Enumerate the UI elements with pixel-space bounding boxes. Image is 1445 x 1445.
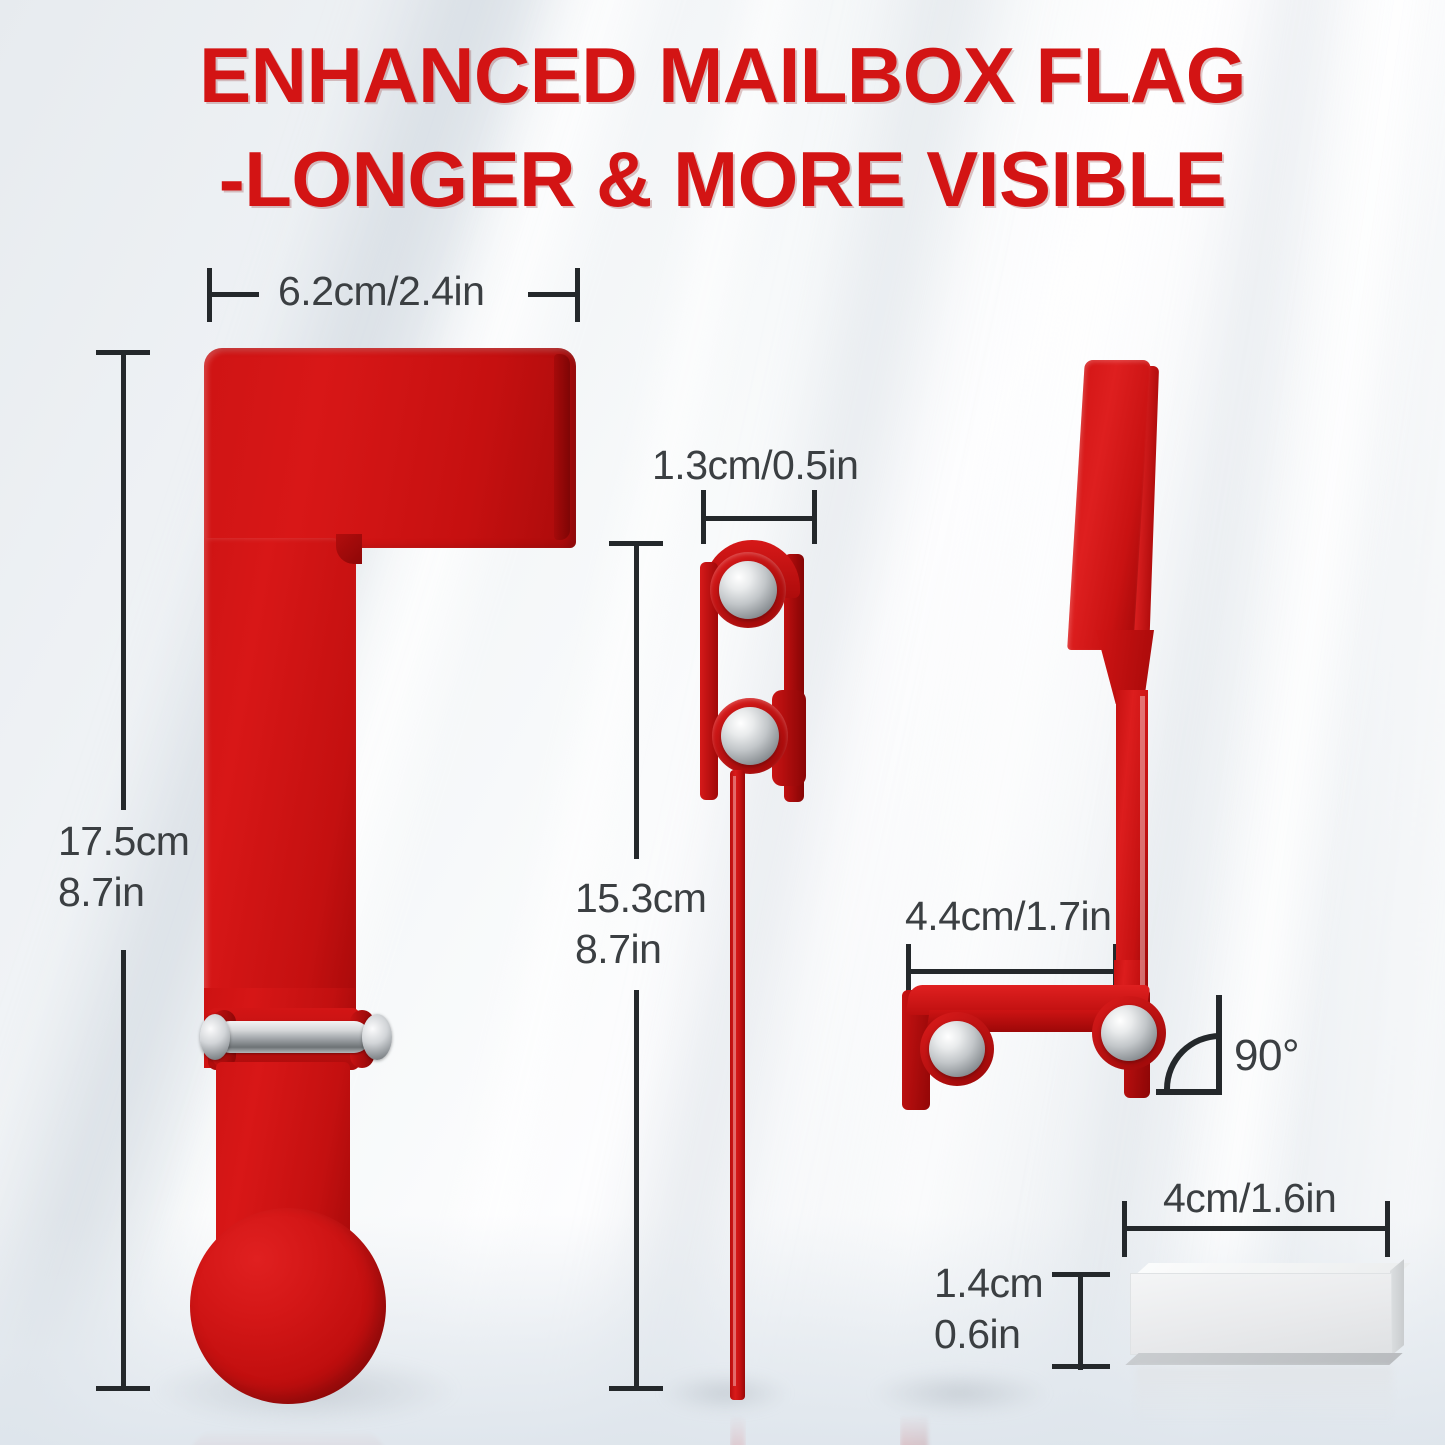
pad-reflection (1136, 1367, 1392, 1421)
hinge-pin-cap-left (200, 1014, 230, 1060)
dimension-line (634, 541, 639, 859)
product-view-perspective (900, 360, 1320, 1400)
dimension-line (121, 950, 126, 1390)
hinge-pin-cap-right (362, 1014, 392, 1060)
dimension-tick (1385, 1201, 1390, 1257)
ball-rivet-icon (719, 561, 777, 619)
pad-front-face (1130, 1273, 1392, 1355)
dimension-label-flag-width: 6.2cm/2.4in (278, 266, 484, 317)
product-view-front-flag (186, 348, 606, 1398)
dimension-line (701, 516, 817, 521)
pivot-housing-right (1092, 996, 1166, 1070)
title-line-1: ENHANCED MAILBOX FLAG (199, 31, 1246, 119)
flag-rod-highlight (733, 776, 736, 1386)
flag-panel (204, 348, 576, 548)
hinge-pin (214, 1021, 370, 1053)
pivot-housing-upper (710, 552, 786, 628)
pad-bottom-edge (1125, 1353, 1402, 1365)
flag-panel-edge (554, 354, 570, 540)
dimension-tick (609, 1386, 663, 1391)
pivot-housing-lower (712, 698, 788, 774)
dimension-line (528, 292, 580, 297)
flag-shaft-highlight (1140, 696, 1145, 1026)
pivot-housing-left (920, 1012, 994, 1086)
ball-rivet-icon (929, 1021, 985, 1077)
dimension-line (634, 990, 639, 1390)
product-view-adhesive-pad (1130, 1263, 1405, 1375)
dimension-tick (812, 490, 817, 544)
dimension-line (121, 350, 126, 810)
dimension-tick (96, 1386, 150, 1391)
product-infographic: ENHANCED MAILBOX FLAG -LONGER & MORE VIS… (0, 0, 1445, 1445)
page-title: ENHANCED MAILBOX FLAG -LONGER & MORE VIS… (0, 24, 1445, 231)
dimension-label-flag-height: 17.5cm 8.7in (58, 816, 189, 919)
ball-rivet-icon (721, 707, 779, 765)
flag-vertical-arm (204, 538, 356, 1018)
dimension-label-bracket-width: 1.3cm/0.5in (652, 440, 858, 491)
title-line-2: -LONGER & MORE VISIBLE (219, 135, 1226, 223)
ball-rivet-icon (1101, 1005, 1157, 1061)
flag-base-disc (190, 1208, 386, 1404)
pad-side-face (1390, 1259, 1404, 1357)
product-view-side-profile (694, 540, 844, 1400)
dimension-tick (575, 268, 580, 322)
dimension-line (207, 292, 259, 297)
